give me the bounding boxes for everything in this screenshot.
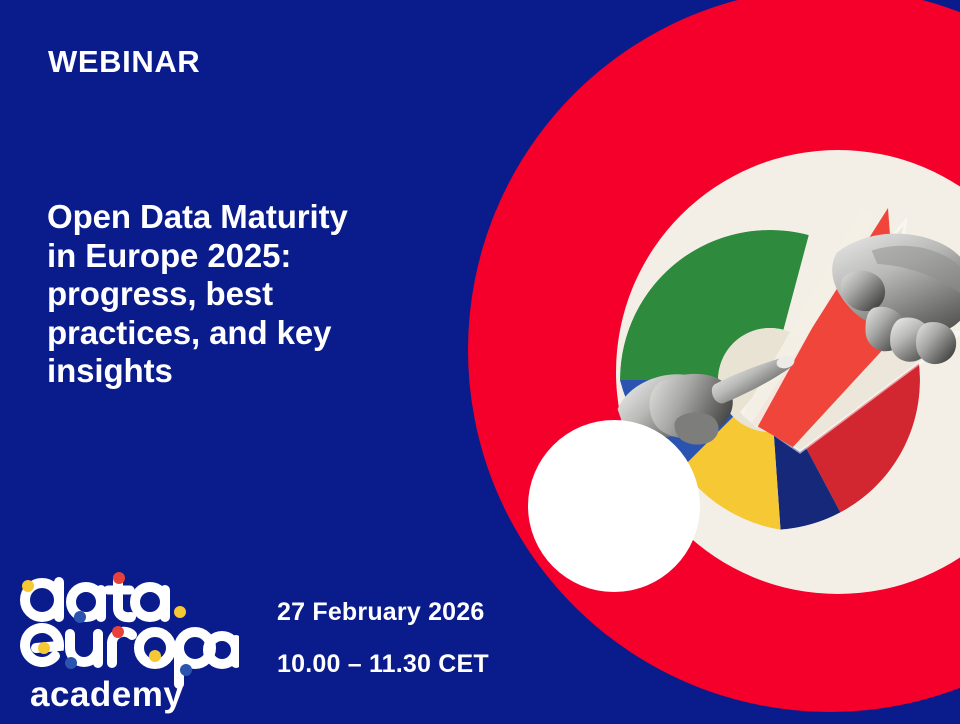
- headline-line-1: Open Data Maturity: [47, 198, 477, 237]
- logo-dot-yellow-1: [22, 580, 34, 592]
- eyebrow-label: WEBINAR: [48, 46, 200, 77]
- donut-center-hub: [718, 328, 822, 432]
- cream-target-circle: [616, 150, 960, 594]
- white-accent-circle: [528, 420, 700, 592]
- paper-arrow: [742, 222, 960, 452]
- headline-line-2: in Europe 2025:: [47, 237, 477, 276]
- red-arrow: [752, 208, 934, 447]
- donut-blue-segment: [620, 380, 770, 468]
- logo-dot-blue-1: [74, 611, 86, 623]
- webinar-time: 10.00 – 11.30 CET: [277, 652, 489, 677]
- donut-navy-segment: [770, 380, 840, 530]
- webinar-promo-card: WEBINAR Open Data Maturity in Europe 202…: [0, 0, 960, 724]
- page-title: Open Data Maturity in Europe 2025: progr…: [47, 198, 477, 391]
- logo-dot-blue-2: [65, 657, 77, 669]
- headline-line-5: insights: [47, 352, 477, 391]
- donut-green-segment: [620, 230, 809, 380]
- donut-chart: [620, 230, 920, 530]
- logo-dot-yellow-2: [38, 642, 50, 654]
- logo-dot-red-2: [112, 626, 124, 638]
- logo-dot-red-1: [113, 572, 125, 584]
- schedule-block: 27 February 2026 10.00 – 11.30 CET: [277, 600, 489, 677]
- logo-word-academy: academy: [30, 675, 183, 714]
- data-europa-academy-logo: academy: [14, 570, 239, 715]
- logo-dot-yellow-3: [149, 650, 161, 662]
- headline-line-3: progress, best: [47, 275, 477, 314]
- arrow-paper-sliver: [742, 208, 876, 428]
- donut-yellow-segment: [682, 380, 781, 530]
- red-target-circle: [468, 0, 960, 712]
- webinar-date: 27 February 2026: [277, 600, 489, 625]
- headline-line-4: practices, and key: [47, 314, 477, 353]
- hand-pointing: [613, 348, 808, 460]
- hand-holding-arrow: [818, 222, 960, 371]
- logo-word-data: [22, 572, 186, 623]
- donut-red-segment: [770, 329, 920, 513]
- logo-dot-period: [174, 606, 186, 618]
